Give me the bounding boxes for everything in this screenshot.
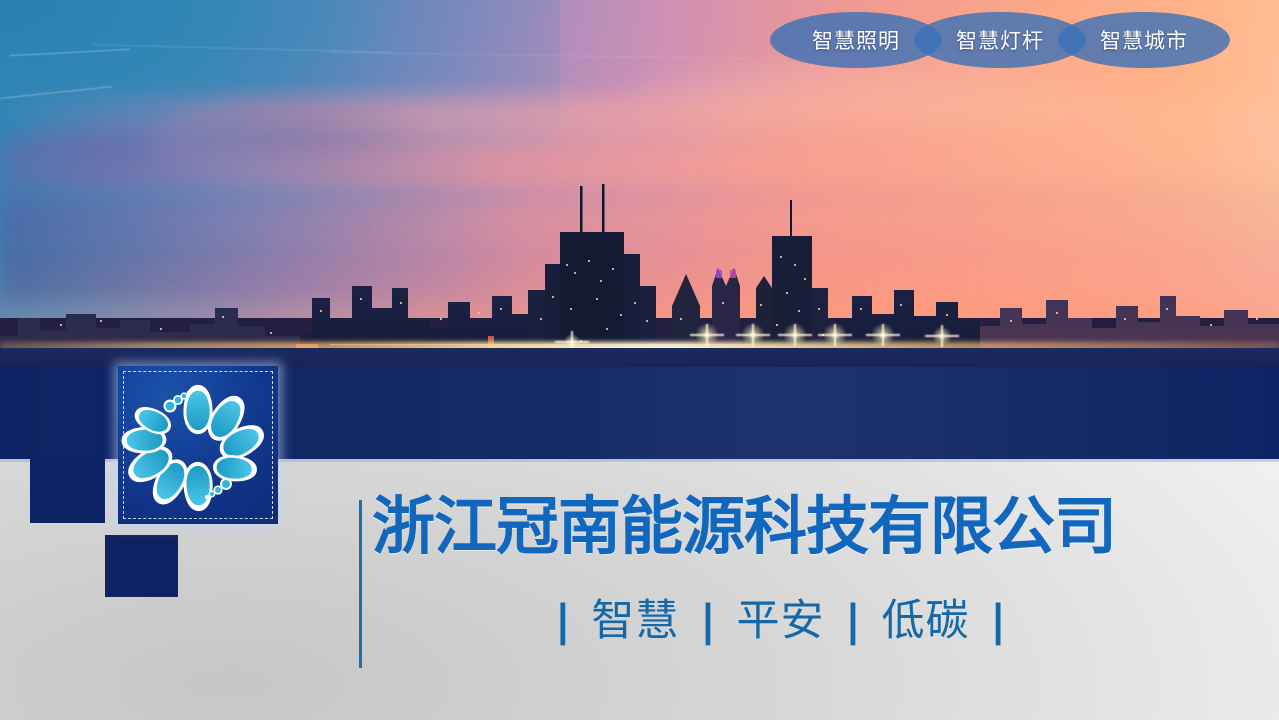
company-logo-tile bbox=[118, 366, 278, 524]
antenna bbox=[790, 200, 792, 236]
tag-group: 智慧照明 智慧灯杆 智慧城市 bbox=[770, 12, 1230, 68]
antenna bbox=[580, 186, 583, 232]
presentation-slide: 智慧照明 智慧灯杆 智慧城市 bbox=[0, 0, 1279, 720]
crown-light bbox=[730, 270, 736, 278]
tagline-separator: | bbox=[987, 596, 1009, 646]
antenna bbox=[602, 184, 605, 232]
skyline-svg bbox=[0, 168, 1279, 368]
starburst-light bbox=[928, 322, 956, 350]
starburst-light bbox=[690, 318, 724, 352]
tagline-separator: | bbox=[842, 596, 864, 646]
decorative-square-small bbox=[105, 535, 178, 597]
cloud-stratum bbox=[0, 96, 1279, 140]
logo-dashed-border bbox=[123, 371, 273, 519]
tagline-word-lowcarbon: 低碳 bbox=[878, 596, 974, 646]
tag-label: 智慧灯杆 bbox=[956, 25, 1044, 55]
tag-label: 智慧城市 bbox=[1100, 25, 1188, 55]
crown-light bbox=[716, 270, 722, 278]
tagline-word-safe: 平安 bbox=[732, 596, 828, 646]
city-skyline-silhouette bbox=[0, 168, 1279, 368]
tagline-word-smart: 智慧 bbox=[587, 596, 683, 646]
decorative-square-large bbox=[30, 459, 105, 523]
company-title: 浙江冠南能源科技有限公司 bbox=[372, 492, 1116, 562]
tag-smart-city[interactable]: 智慧城市 bbox=[1058, 12, 1230, 68]
tagline-separator: | bbox=[697, 596, 719, 646]
starburst-light bbox=[778, 318, 812, 352]
starburst-light bbox=[818, 318, 852, 352]
starburst-light bbox=[866, 318, 900, 352]
title-accent-rule bbox=[359, 500, 362, 668]
starburst-light bbox=[736, 318, 770, 352]
lake-water bbox=[0, 348, 1279, 368]
company-tagline: | 智慧 | 平安 | 低碳 | bbox=[552, 596, 1009, 646]
tagline-separator: | bbox=[552, 596, 574, 646]
tag-label: 智慧照明 bbox=[812, 25, 900, 55]
